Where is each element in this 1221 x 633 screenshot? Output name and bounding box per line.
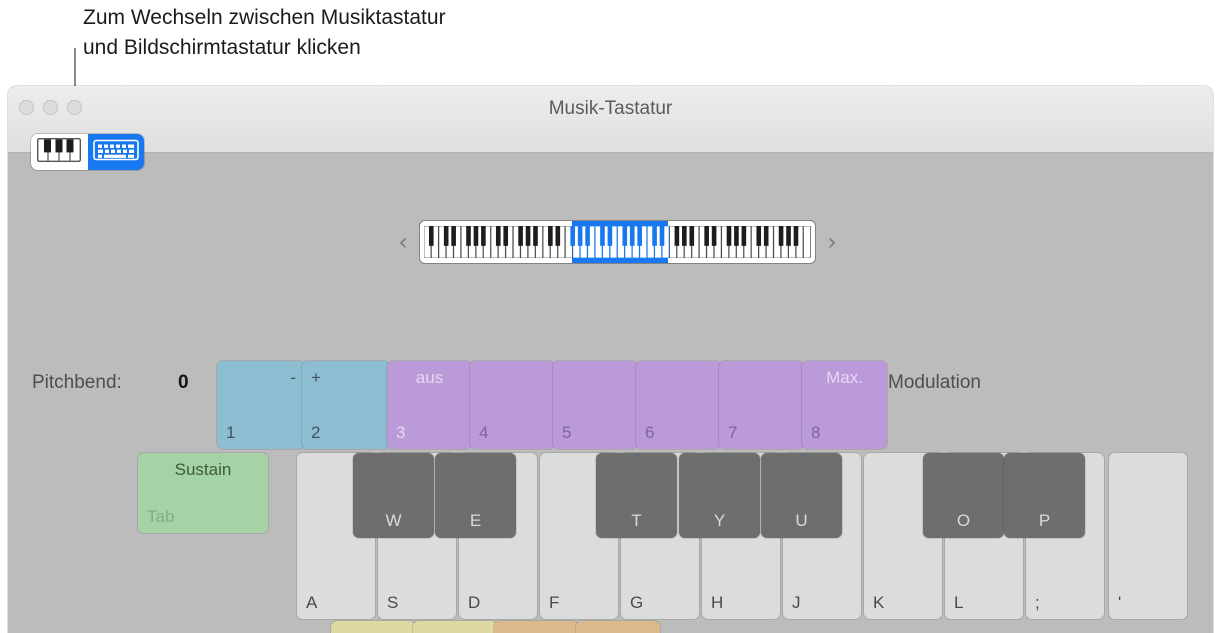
black-key-U[interactable]: U	[761, 453, 842, 538]
white-key-label: K	[873, 593, 884, 613]
white-key-label: H	[711, 593, 723, 613]
black-key-label: Y	[679, 511, 760, 531]
black-key-O[interactable]: O	[923, 453, 1004, 538]
modulation-2-bottom-label: 5	[562, 423, 571, 443]
velocity-down-key[interactable]: -C	[494, 621, 578, 633]
modulation-1-key[interactable]: 4	[470, 361, 555, 449]
modulation-4-bottom-label: 7	[728, 423, 737, 443]
window-titlebar: Musik-Tastatur	[8, 86, 1213, 153]
black-key-T[interactable]: T	[596, 453, 677, 538]
white-key-[interactable]: '	[1109, 453, 1187, 619]
pitchbend-down-bottom-label: 1	[226, 423, 235, 443]
black-key-W[interactable]: W	[353, 453, 434, 538]
modulation-3-bottom-label: 6	[645, 423, 654, 443]
modulation-max-bottom-label: 8	[811, 423, 820, 443]
pitchbend-up-bottom-label: 2	[311, 423, 320, 443]
white-key-label: '	[1118, 593, 1121, 613]
black-key-label: T	[596, 511, 677, 531]
octave-down-key[interactable]: -Z	[331, 621, 415, 633]
white-key-label: S	[387, 593, 398, 613]
pitchbend-label: Pitchbend:	[32, 372, 122, 394]
white-key-label: G	[630, 593, 643, 613]
velocity-down-top-label: -	[503, 628, 569, 633]
modulation-off-bottom-label: 3	[396, 423, 405, 443]
modulation-label: Modulation	[888, 372, 981, 394]
modulation-max-key[interactable]: Max.8	[802, 361, 887, 449]
pitchbend-value: 0	[178, 372, 189, 394]
pitchbend-up-key[interactable]: +2	[302, 361, 390, 449]
pitchbend-up-top-label: +	[311, 368, 381, 388]
sustain-key-bottom-label: Tab	[147, 507, 174, 527]
window-title: Musik-Tastatur	[8, 98, 1213, 120]
callout-text: Zum Wechseln zwischen Musiktastatur und …	[83, 3, 703, 63]
sustain-key-top-label: Sustain	[147, 460, 259, 480]
octave-up-top-label: +	[422, 628, 488, 633]
white-key-label: ;	[1035, 593, 1040, 613]
white-key-label: A	[306, 593, 317, 613]
pitchbend-down-key[interactable]: -1	[217, 361, 305, 449]
music-keyboard-window: Musik-Tastatur	[8, 86, 1213, 633]
black-key-label: U	[761, 511, 842, 531]
velocity-up-top-label: +	[585, 628, 651, 633]
keyboard-panel: Pitchbend: 0 Modulation -1+2aus34567Max.…	[8, 153, 1213, 633]
octave-up-key[interactable]: +X	[413, 621, 497, 633]
modulation-max-top-label: Max.	[811, 368, 878, 388]
black-key-label: P	[1004, 511, 1085, 531]
white-key-label: F	[549, 593, 559, 613]
white-key-label: D	[468, 593, 480, 613]
octave-down-top-label: -	[340, 628, 406, 633]
modulation-off-key[interactable]: aus3	[387, 361, 472, 449]
modulation-2-key[interactable]: 5	[553, 361, 638, 449]
black-key-E[interactable]: E	[435, 453, 516, 538]
black-key-label: O	[923, 511, 1004, 531]
pitchbend-down-top-label: -	[226, 368, 296, 388]
white-key-label: J	[792, 593, 801, 613]
velocity-up-key[interactable]: +V	[576, 621, 660, 633]
modulation-1-bottom-label: 4	[479, 423, 488, 443]
sustain-key[interactable]: Sustain Tab	[138, 453, 268, 533]
white-key-label: L	[954, 593, 963, 613]
black-key-Y[interactable]: Y	[679, 453, 760, 538]
modulation-3-key[interactable]: 6	[636, 361, 721, 449]
modulation-off-top-label: aus	[396, 368, 463, 388]
black-key-label: W	[353, 511, 434, 531]
black-key-label: E	[435, 511, 516, 531]
modulation-4-key[interactable]: 7	[719, 361, 804, 449]
black-key-P[interactable]: P	[1004, 453, 1085, 538]
